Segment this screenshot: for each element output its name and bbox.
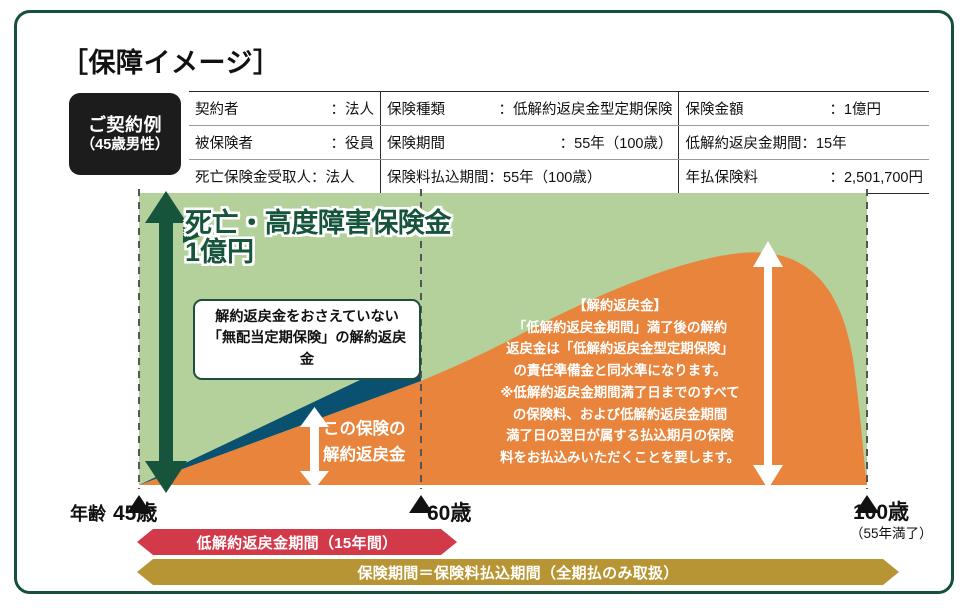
surrender-value-note: 【解約返戻金】 「低解約返戻金期間」満了後の解約 返戻金は「低解約返戻金型定期保… bbox=[465, 295, 775, 469]
cell-key: 契約者 bbox=[195, 98, 239, 119]
badge-line2: （45歳男性） bbox=[81, 136, 170, 154]
diagram-frame: ［保障イメージ］ ご契約例 （45歳男性） 契約者：法人 保険種類：低解約返戻金… bbox=[14, 10, 954, 594]
note-line-4: ※低解約返戻金期間満了日までのすべて bbox=[465, 382, 775, 404]
note-line-6: 満了日の翌日が属する払込期月の保険 bbox=[465, 425, 775, 447]
cell-value: ：役員 bbox=[331, 132, 375, 153]
axis-tick-100-sub: （55年満了） bbox=[850, 522, 933, 542]
headline-line2: 1億円 bbox=[185, 238, 451, 267]
cell-value: ：低解約返戻金型定期保険 bbox=[498, 98, 672, 119]
note-line-5: の保険料、および低解約返戻金期間 bbox=[465, 404, 775, 426]
cell-insured: 被保険者：役員 bbox=[189, 126, 381, 160]
contract-example-badge: ご契約例 （45歳男性） bbox=[69, 93, 181, 175]
policy-term-bar: 保険期間＝保険料払込期間（全期払のみ取扱） bbox=[137, 559, 899, 585]
bubble-line2: 「無配当定期保険」の解約返戻金 bbox=[204, 328, 410, 371]
policy-surrender-label: この保険の 解約返戻金 bbox=[323, 417, 406, 468]
cell-value: ：2,501,700円 bbox=[829, 166, 923, 187]
cell-policy-term: 保険期間：55年（100歳） bbox=[381, 126, 679, 160]
cell-value: ：法人 bbox=[311, 166, 355, 187]
cell-low-surrender-period: 低解約返戻金期間：15年 bbox=[679, 126, 929, 160]
policy-term-label: 保険期間＝保険料払込期間（全期払のみ取扱） bbox=[137, 559, 899, 585]
table-row: 契約者：法人 保険種類：低解約返戻金型定期保険 保険金額：1億円 bbox=[189, 92, 929, 126]
axis-tick-45: 45歳 bbox=[113, 497, 157, 527]
policy-spec-table: 契約者：法人 保険種類：低解約返戻金型定期保険 保険金額：1億円 被保険者：役員… bbox=[189, 91, 929, 194]
table-row: 被保険者：役員 保険期間：55年（100歳） 低解約返戻金期間：15年 bbox=[189, 126, 929, 160]
cell-key: 保険金額 bbox=[685, 98, 825, 119]
comparison-callout-bubble: 解約返戻金をおさえていない 「無配当定期保険」の解約返戻金 bbox=[193, 299, 421, 380]
low-surrender-period-bar: 低解約返戻金期間（15年間） bbox=[137, 529, 457, 555]
cell-key: 年払保険料 bbox=[685, 166, 825, 187]
axis-tick-60: 60歳 bbox=[427, 497, 471, 527]
cell-key: 保険料払込期間 bbox=[387, 166, 489, 187]
bubble-line1: 解約返戻金をおさえていない bbox=[204, 307, 410, 328]
cell-sum-insured: 保険金額：1億円 bbox=[679, 92, 929, 126]
note-line-1: 「低解約返戻金期間」満了後の解約 bbox=[465, 317, 775, 339]
cell-key: 被保険者 bbox=[195, 132, 253, 153]
cell-product-type: 保険種類：低解約返戻金型定期保険 bbox=[381, 92, 679, 126]
badge-line1: ご契約例 bbox=[88, 114, 162, 137]
note-line-3: の責任準備金と同水準になります。 bbox=[465, 360, 775, 382]
cell-value: ：15年 bbox=[801, 132, 846, 153]
note-heading: 【解約返戻金】 bbox=[465, 295, 775, 317]
axis-prefix-label: 年齢 bbox=[70, 500, 106, 526]
cell-value: ：1億円 bbox=[829, 98, 881, 119]
cell-value: ：55年（100歳） bbox=[560, 132, 673, 153]
policy-surrender-label-line1: この保険の bbox=[323, 417, 406, 443]
headline-death-benefit: 死亡・高度障害保険金 1億円 bbox=[185, 209, 451, 267]
cell-key: 保険種類 bbox=[387, 98, 445, 119]
cell-value: ：55年（100歳） bbox=[489, 166, 602, 187]
cell-key: 死亡保険金受取人 bbox=[195, 166, 311, 187]
cell-key: 低解約返戻金期間 bbox=[685, 132, 801, 153]
cell-contractor: 契約者：法人 bbox=[189, 92, 381, 126]
chart-baseline bbox=[139, 485, 867, 488]
note-line-2: 返戻金は「低解約返戻金型定期保険」 bbox=[465, 338, 775, 360]
policy-surrender-label-line2: 解約返戻金 bbox=[323, 443, 406, 469]
cell-value: ：法人 bbox=[331, 98, 375, 119]
low-surrender-period-label: 低解約返戻金期間（15年間） bbox=[137, 529, 457, 555]
page-title: ［保障イメージ］ bbox=[61, 41, 280, 80]
cell-key: 保険期間 bbox=[387, 132, 445, 153]
headline-line1: 死亡・高度障害保険金 bbox=[185, 209, 451, 238]
note-line-7: 料をお払込みいただくことを要します。 bbox=[465, 447, 775, 469]
